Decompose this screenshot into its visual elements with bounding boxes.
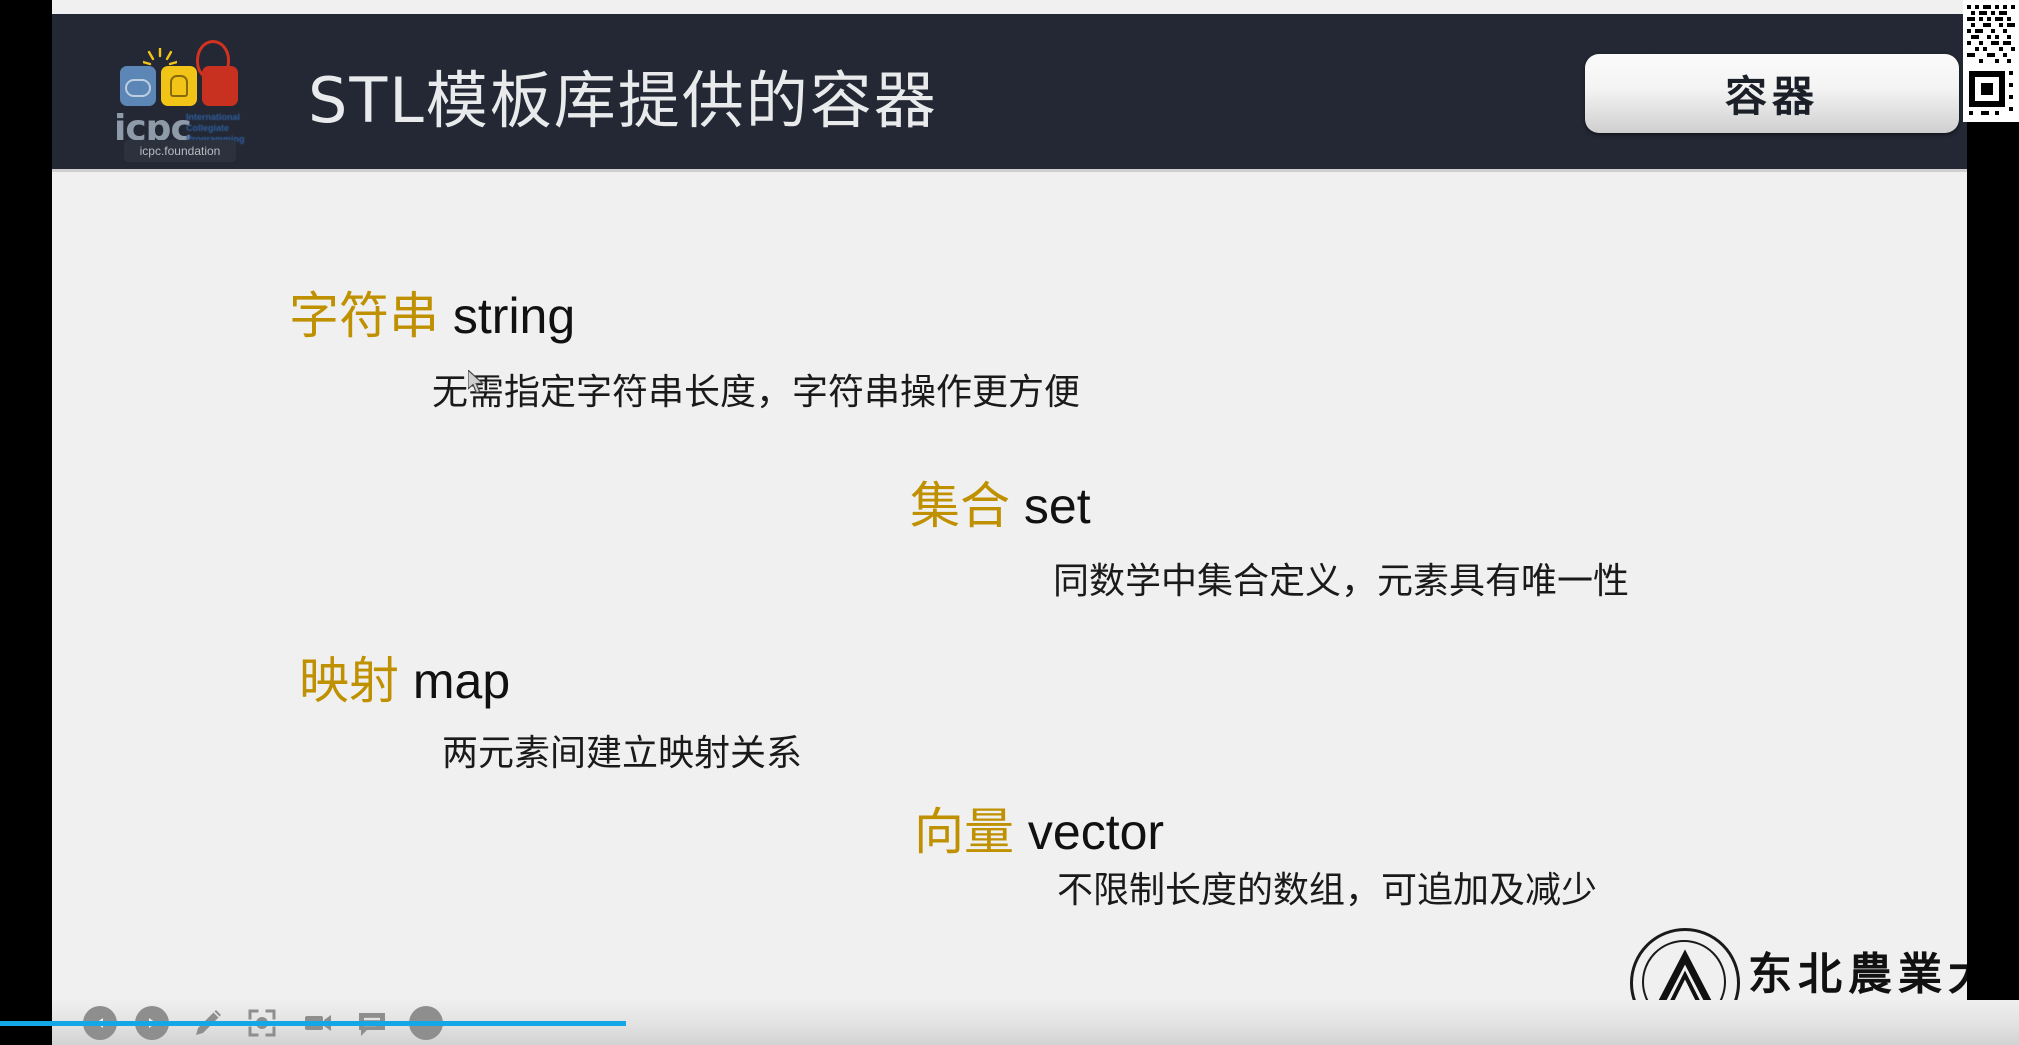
entry-set-cn: 集合 xyxy=(910,477,1010,535)
entry-map-cn: 映射 xyxy=(299,652,399,710)
university-seal-icon: 1948 xyxy=(1630,928,1740,1000)
topic-badge: 容器 xyxy=(1585,54,1959,133)
entry-vector: 向量 vector xyxy=(914,792,1164,864)
entry-vector-desc: 不限制长度的数组，可追加及减少 xyxy=(1057,861,1597,913)
icpc-foundation-label: icpc.foundation xyxy=(124,140,236,162)
progress-fill-gutter xyxy=(0,1021,52,1026)
progress-track[interactable] xyxy=(626,1022,692,1025)
page-title: STL模板库提供的容器 xyxy=(308,50,938,140)
entry-map: 映射 map xyxy=(299,641,510,713)
entry-string-cn: 字符串 xyxy=(289,287,439,345)
qr-code-icon xyxy=(1963,0,2019,122)
icpc-tile-blue xyxy=(120,66,156,106)
icpc-tile-gold xyxy=(161,66,197,106)
entry-set-desc: 同数学中集合定义，元素具有唯一性 xyxy=(1053,552,1629,604)
entry-vector-en: vector xyxy=(1028,804,1164,860)
seal-mountain-icon xyxy=(1633,931,1737,1000)
icpc-tiles xyxy=(120,66,244,110)
entry-set-en: set xyxy=(1024,478,1091,534)
player-toolbar[interactable] xyxy=(52,1000,2019,1045)
icpc-logo: icpc International Collegiate Programmin… xyxy=(110,40,250,156)
slide-header: icpc International Collegiate Programmin… xyxy=(52,14,1967,172)
slide-player-window: 东北农业大学ACM集训队 字符串 string 无需指定字符串长度，字符串操作更… xyxy=(0,0,2019,1045)
university-name-cn: 东北農業大學 xyxy=(1748,938,1967,1000)
entry-map-desc: 两元素间建立映射关系 xyxy=(442,724,802,776)
university-logo: 1948 东北農業大學 Northeast Agricultural Unive… xyxy=(1630,926,1967,1000)
entry-string-en: string xyxy=(453,288,575,344)
entry-vector-cn: 向量 xyxy=(914,803,1014,861)
entry-map-en: map xyxy=(413,653,510,709)
progress-fill[interactable] xyxy=(52,1021,626,1026)
entry-string-desc: 无需指定字符串长度，字符串操作更方便 xyxy=(432,363,1080,415)
entry-string: 字符串 string xyxy=(289,276,575,348)
topic-badge-label: 容器 xyxy=(1725,63,1819,124)
icpc-tile-red xyxy=(202,66,238,106)
entry-set: 集合 set xyxy=(910,466,1091,538)
